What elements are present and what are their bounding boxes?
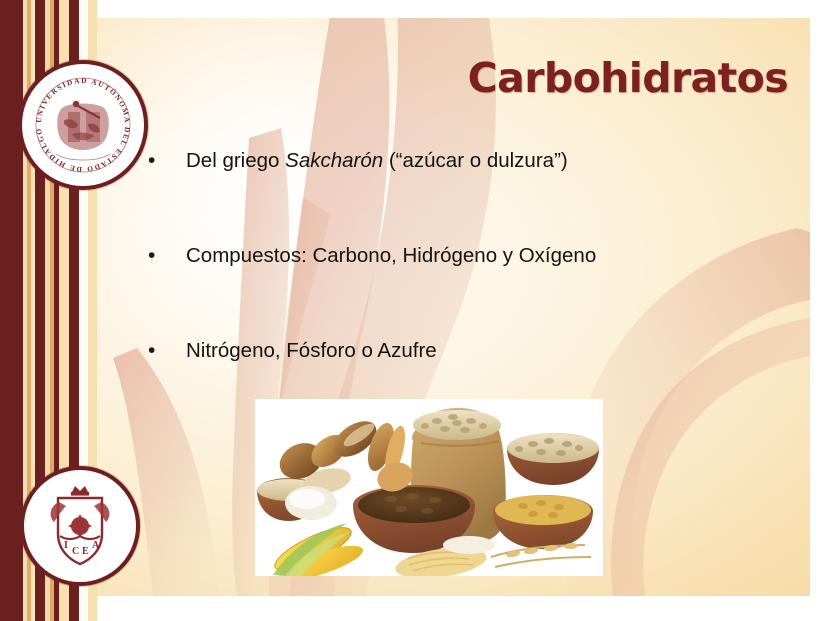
bullet-marker-icon: • xyxy=(145,336,186,366)
uaeh-seal-graphic: UNIVERSIDAD AUTÓNOMA DEL ESTADO DE HIDAL… xyxy=(26,68,140,182)
carbohydrate-foods-photo xyxy=(255,399,603,576)
bullet-marker-icon: • xyxy=(145,241,186,271)
icea-letter-a: A xyxy=(92,540,100,551)
icea-shield-logo: I C E A xyxy=(20,466,140,586)
slide-root: Carbohidratos • Del griego Sakcharón (“a… xyxy=(0,0,828,621)
bullet-text-1-post: (“azúcar o dulzura”) xyxy=(383,149,568,172)
carbohydrate-foods-illustration xyxy=(255,399,603,576)
bullet-text-1-emphasis: Sakcharón xyxy=(285,149,383,172)
bullet-text-3: Nitrógeno, Fósforo o Azufre xyxy=(186,336,785,366)
bullet-list: • Del griego Sakcharón (“azúcar o dulzur… xyxy=(145,146,785,431)
universidad-autonoma-del-estado-de-hidalgo-seal: UNIVERSIDAD AUTÓNOMA DEL ESTADO DE HIDAL… xyxy=(18,60,148,190)
uaeh-coat-of-arms xyxy=(57,101,109,150)
bullet-marker-icon: • xyxy=(145,146,186,176)
icea-letter-i: I xyxy=(64,540,68,551)
bullet-item-3: • Nitrógeno, Fósforo o Azufre xyxy=(145,336,785,366)
icea-letter-c: C xyxy=(72,546,79,557)
bullet-item-1: • Del griego Sakcharón (“azúcar o dulzur… xyxy=(145,146,785,176)
icea-shield-graphic: I C E A xyxy=(28,474,132,578)
bullet-text-1: Del griego Sakcharón (“azúcar o dulzura”… xyxy=(186,146,785,176)
bullet-text-1-pre: Del griego xyxy=(186,149,285,172)
bullet-text-2: Compuestos: Carbono, Hidrógeno y Oxígeno xyxy=(186,241,785,271)
bullet-item-2: • Compuestos: Carbono, Hidrógeno y Oxíge… xyxy=(145,241,785,271)
icea-letter-e: E xyxy=(82,546,89,557)
slide-title: Carbohidratos xyxy=(468,54,788,102)
